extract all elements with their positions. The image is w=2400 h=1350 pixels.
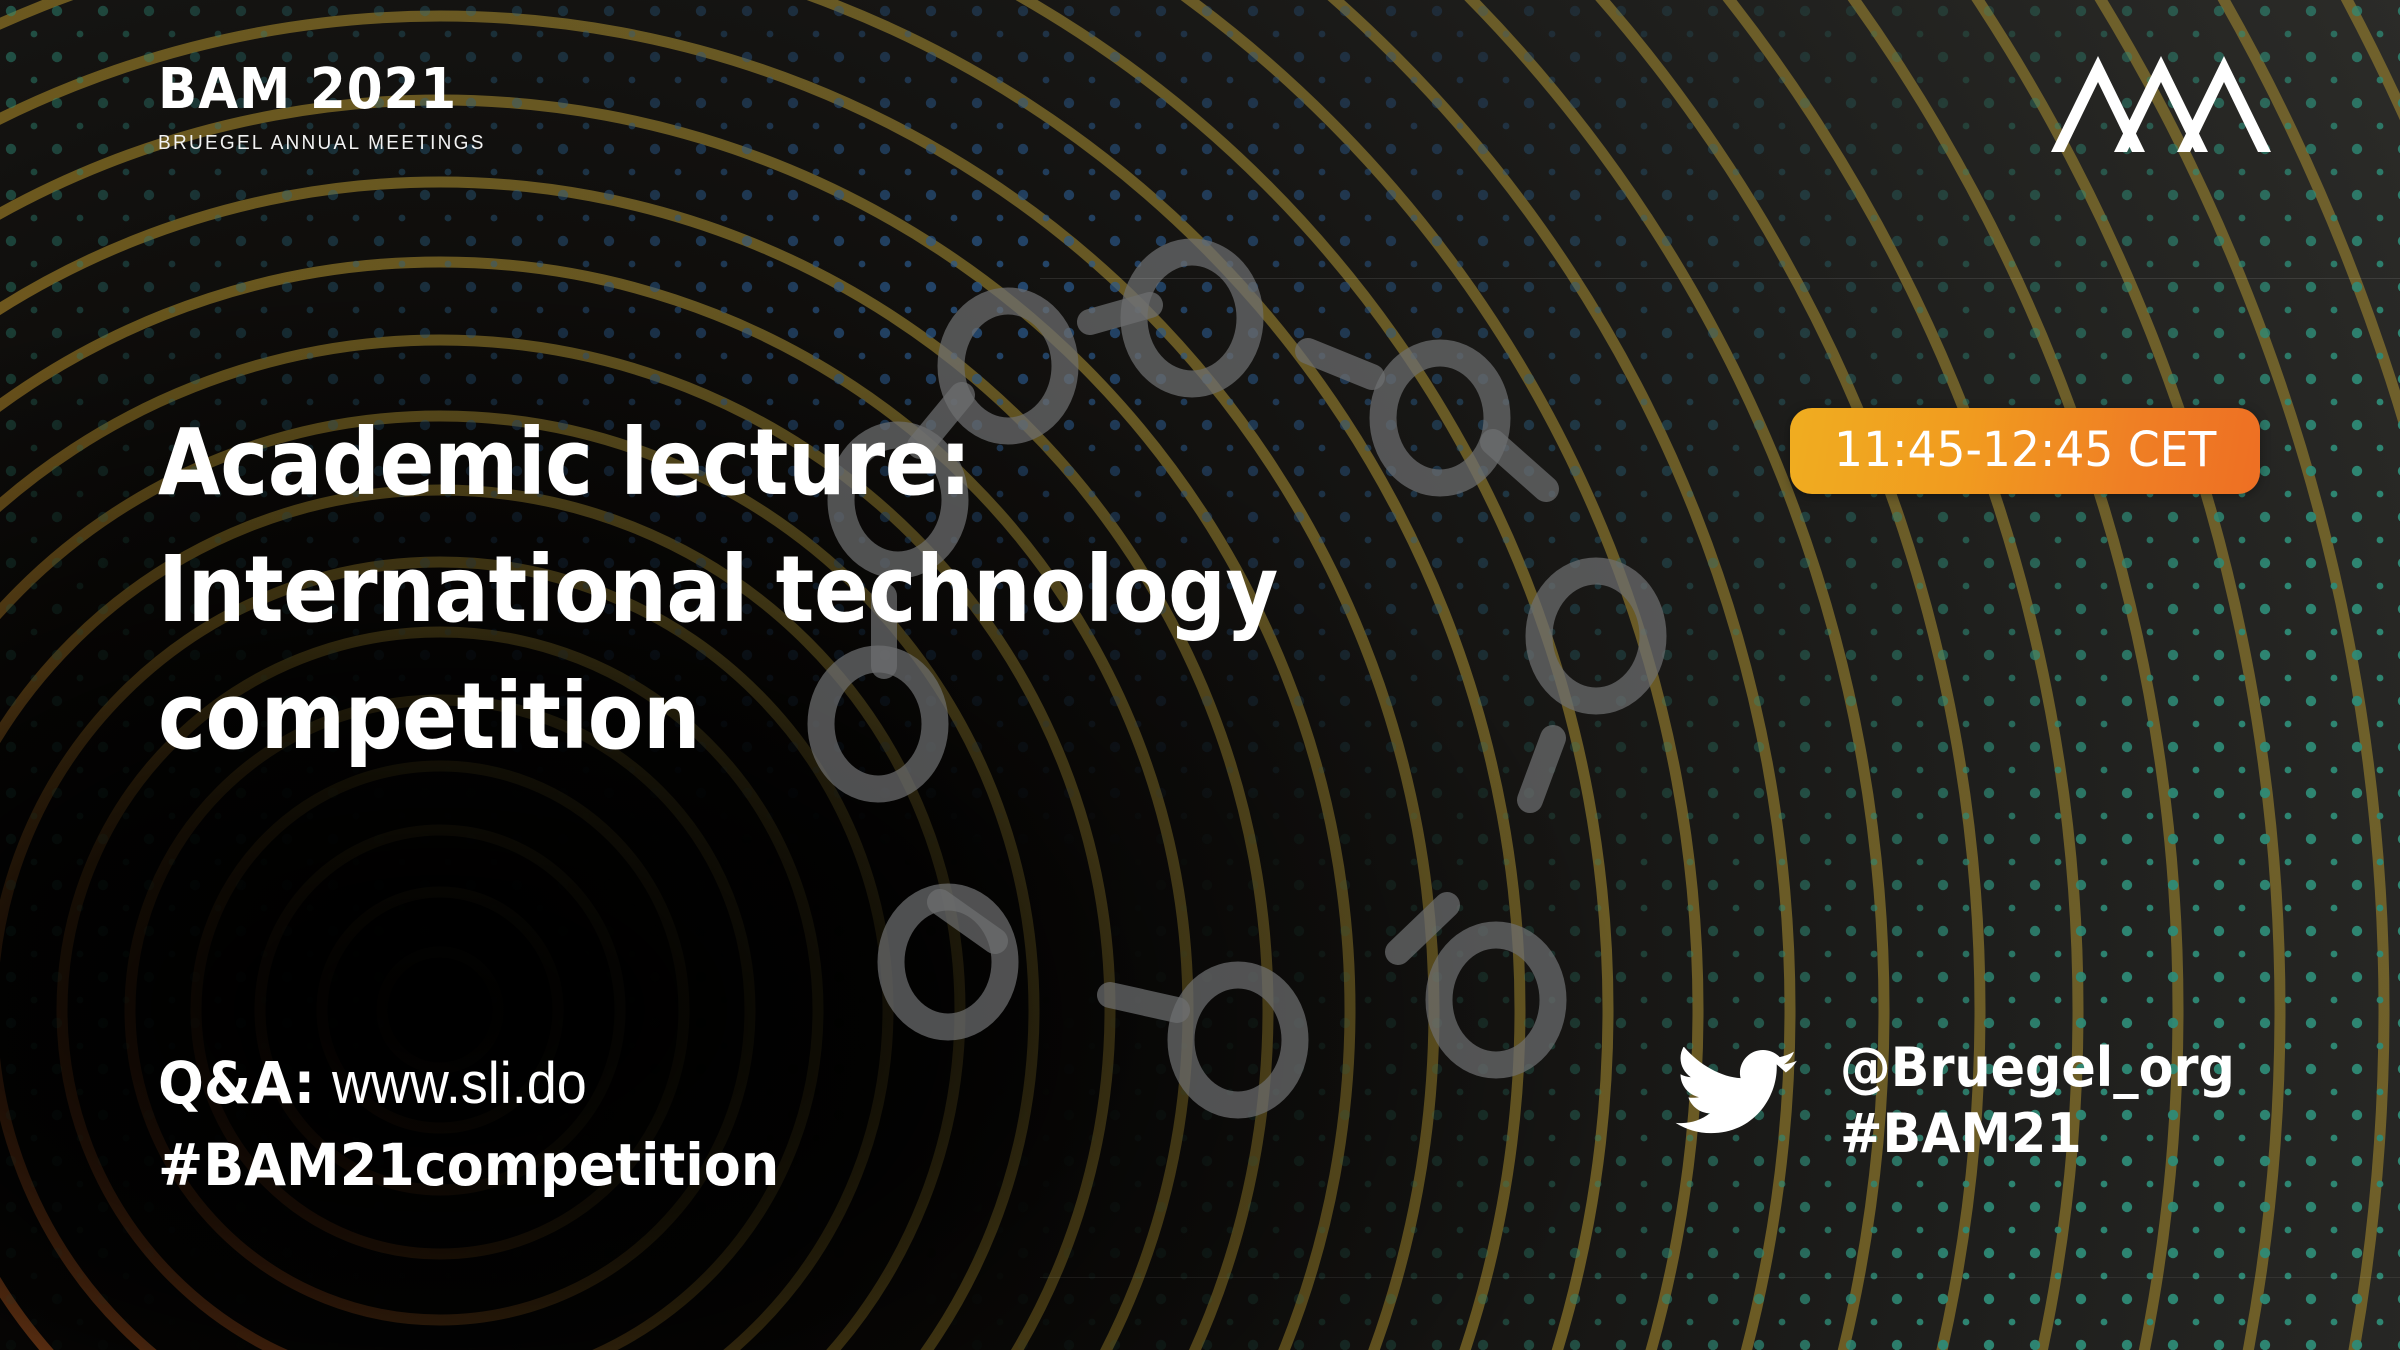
qa-url[interactable]: www.sli.do (332, 1051, 587, 1116)
footer-divider-line (1040, 1277, 2400, 1278)
header-divider-line (1040, 278, 2400, 279)
session-title-line-3: competition (158, 654, 1328, 781)
event-banner: BAM 2021 BRUEGEL ANNUAL MEETINGS Academi… (0, 0, 2400, 1350)
session-title: Academic lecture: International technolo… (158, 400, 1328, 781)
brand-block: BAM 2021 BRUEGEL ANNUAL MEETINGS (158, 62, 503, 155)
brand-title: BAM 2021 (158, 62, 475, 118)
session-title-line-1: Academic lecture: (158, 400, 1328, 527)
social-block: @Bruegel_org #BAM21 (1672, 1035, 2260, 1167)
qa-hashtag: #BAM21competition (158, 1132, 779, 1199)
event-hashtag: #BAM21 (1840, 1101, 2235, 1167)
session-time-badge: 11:45-12:45 CET (1790, 408, 2260, 494)
bruegel-peaks-logo (2046, 52, 2276, 152)
social-text-block: @Bruegel_org #BAM21 (1840, 1035, 2260, 1167)
twitter-handle: @Bruegel_org (1840, 1035, 2235, 1101)
twitter-bird-icon (1672, 1047, 1800, 1155)
brand-subtitle: BRUEGEL ANNUAL MEETINGS (158, 132, 486, 155)
qa-block: Q&A:www.sli.do #BAM21competition (158, 1050, 826, 1198)
qa-label: Q&A: (158, 1049, 315, 1117)
session-time-label: 11:45-12:45 CET (1834, 426, 2216, 474)
qa-url-row: Q&A:www.sli.do (158, 1050, 779, 1118)
session-title-line-2: International technology (158, 527, 1328, 654)
